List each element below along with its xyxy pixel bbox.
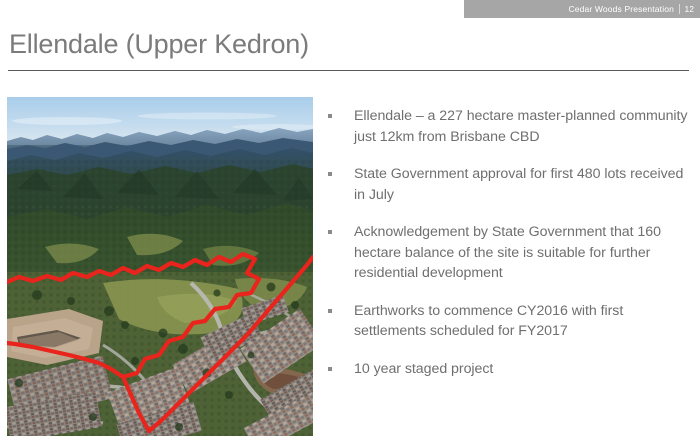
list-item: Ellendale – a 227 hectare master-planned… [328, 106, 696, 147]
list-item: Acknowledgement by State Government that… [328, 222, 696, 284]
bullet-text: Acknowledgement by State Government that… [354, 222, 696, 284]
aerial-site-photo [7, 97, 313, 436]
header-divider [679, 4, 680, 14]
bullet-text: State Government approval for first 480 … [354, 164, 696, 205]
square-bullet-icon [328, 309, 332, 313]
page-number-label: 12 [685, 3, 694, 15]
bullet-text: 10 year staged project [354, 359, 696, 380]
title-underline-rule [8, 70, 689, 71]
list-item: State Government approval for first 480 … [328, 164, 696, 205]
bullet-text: Ellendale – a 227 hectare master-planned… [354, 106, 696, 147]
slide-title: Ellendale (Upper Kedron) [9, 27, 309, 61]
list-item: Earthworks to commence CY2016 with first… [328, 301, 696, 342]
square-bullet-icon [328, 367, 332, 371]
square-bullet-icon [328, 172, 332, 176]
bullet-list: Ellendale – a 227 hectare master-planned… [328, 106, 696, 379]
presentation-name-label: Cedar Woods Presentation [568, 3, 674, 15]
list-item: 10 year staged project [328, 359, 696, 380]
bullet-text: Earthworks to commence CY2016 with first… [354, 301, 696, 342]
square-bullet-icon [328, 114, 332, 118]
square-bullet-icon [328, 230, 332, 234]
